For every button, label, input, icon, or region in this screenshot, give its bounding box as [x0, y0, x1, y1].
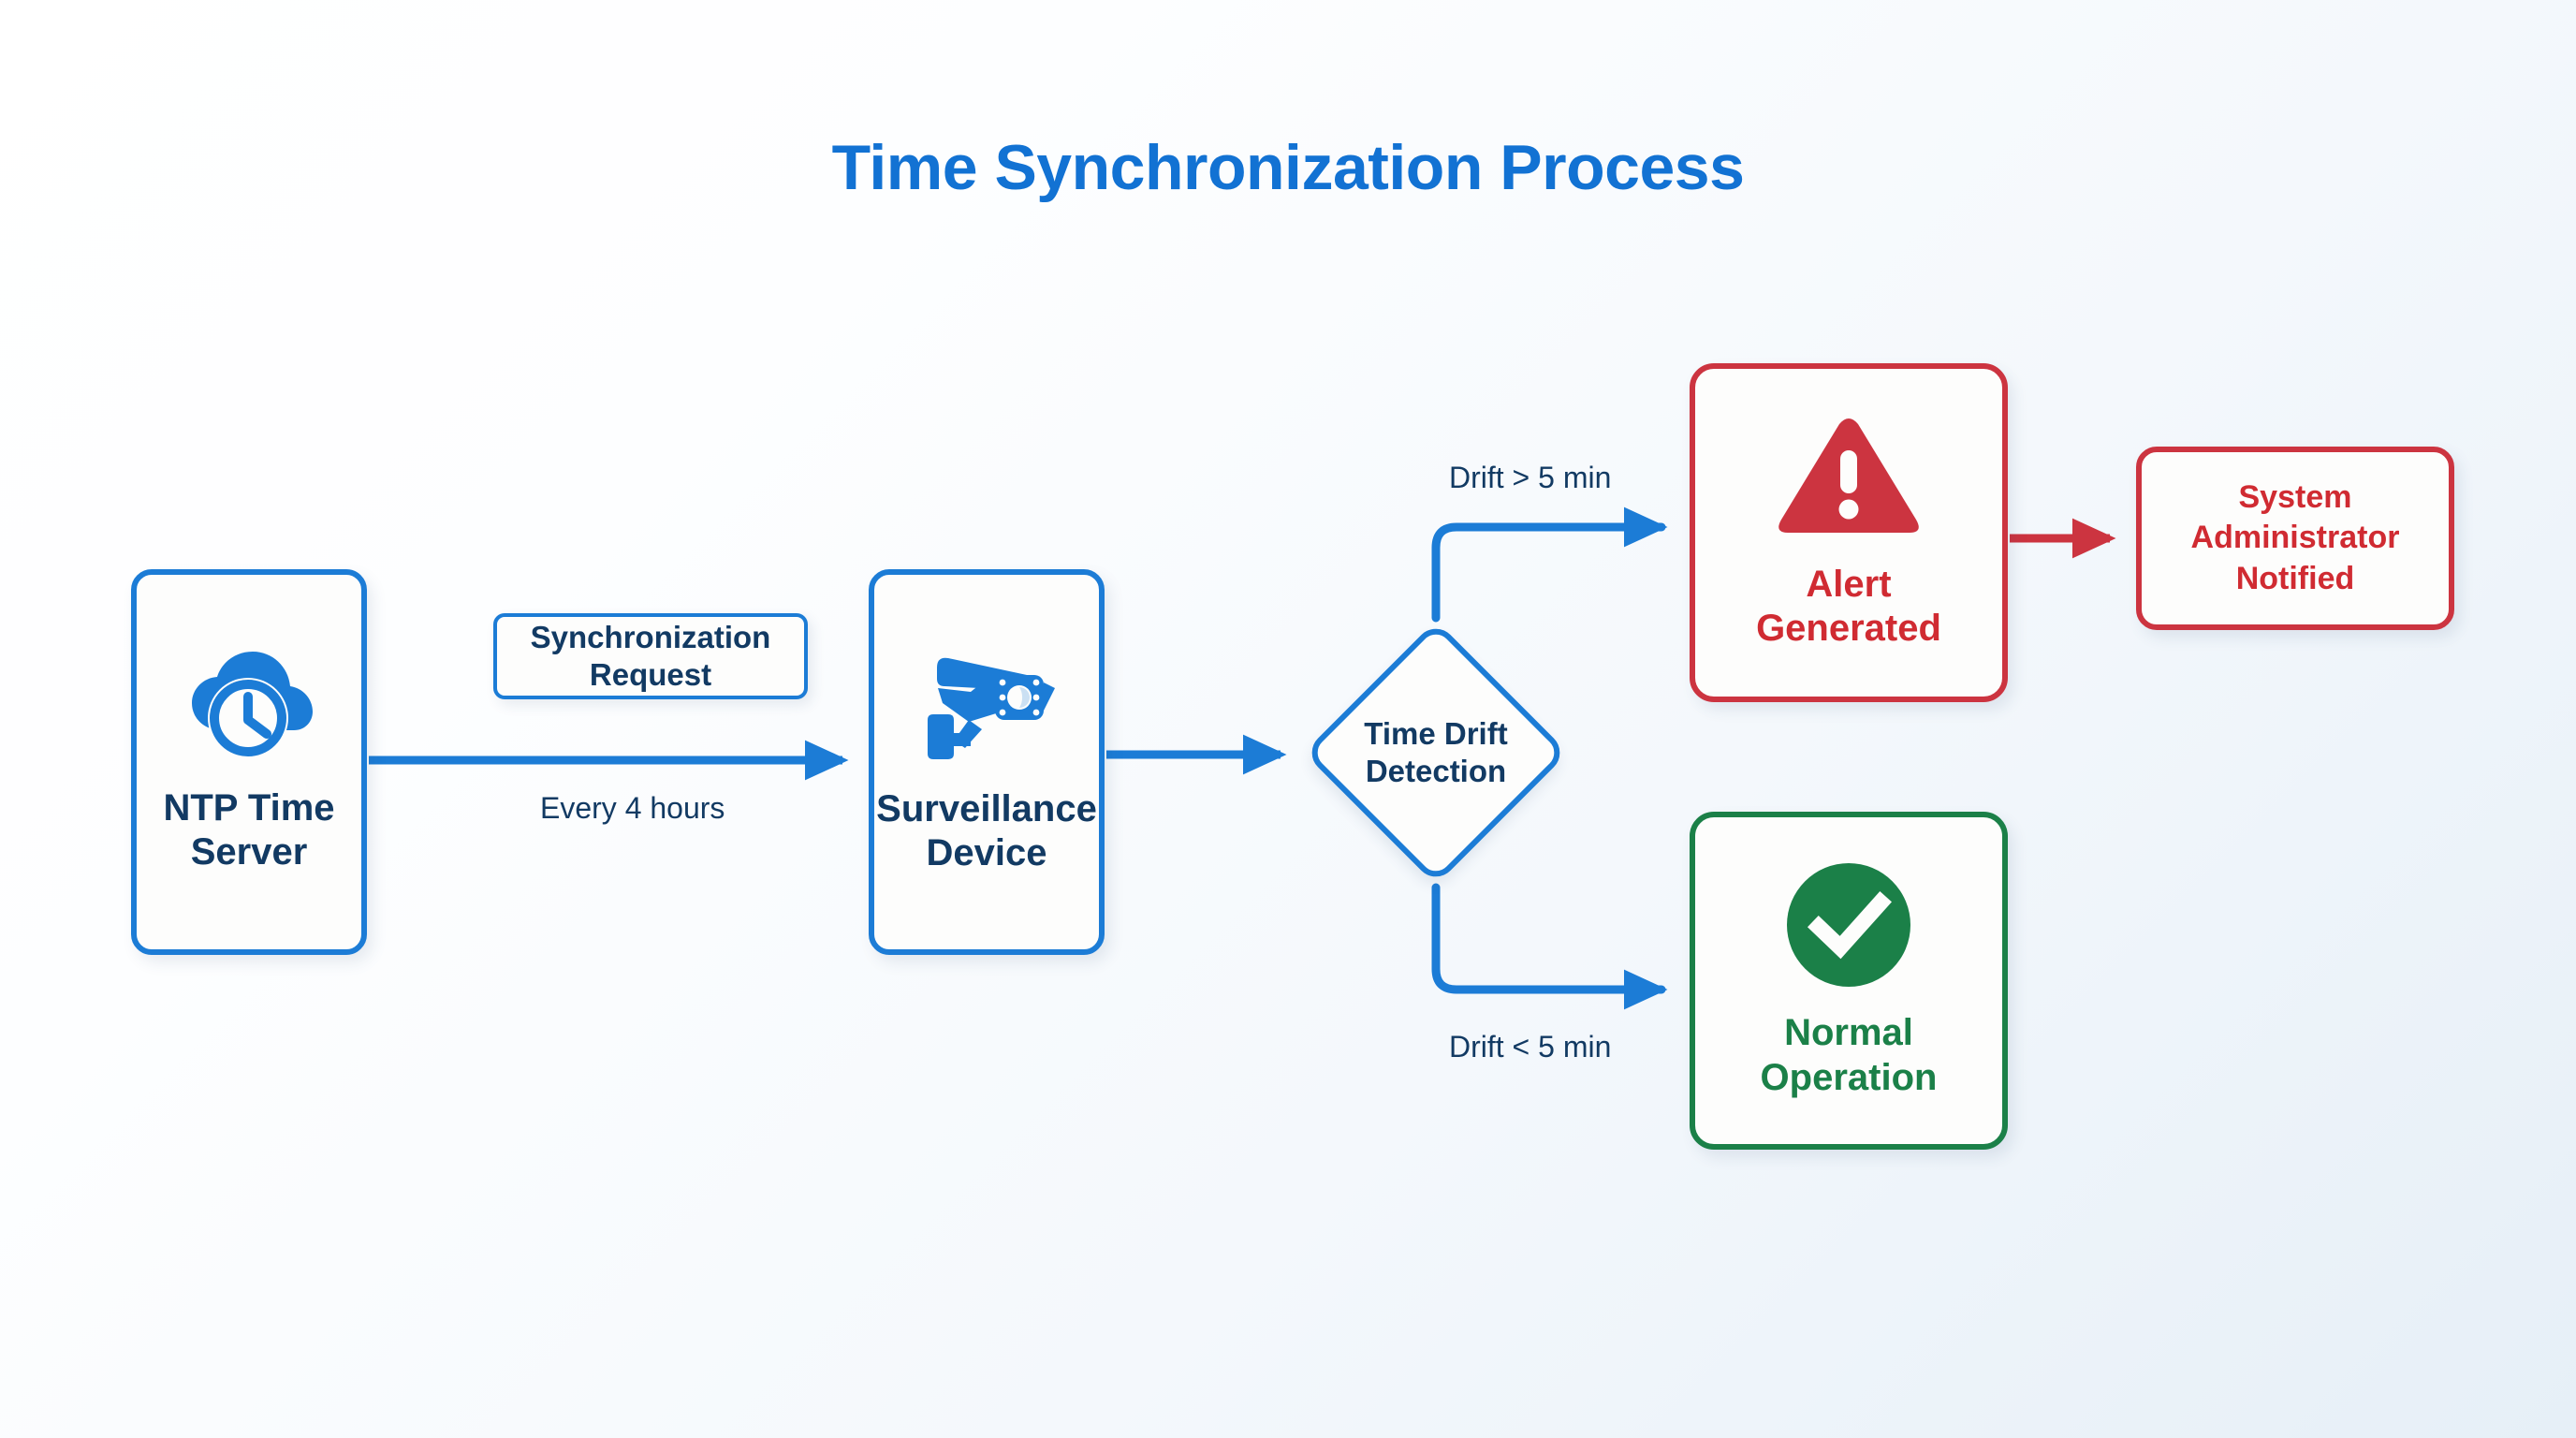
cctv-camera-icon	[916, 649, 1057, 763]
edge-decision-to-normal	[1436, 888, 1661, 990]
node-ntp-time-server[interactable]: NTP Time Server	[131, 569, 367, 955]
node-normal-operation[interactable]: Normal Operation	[1690, 812, 2008, 1150]
badge-synchronization-request: Synchronization Request	[493, 613, 808, 699]
node-system-administrator-notified[interactable]: System Administrator Notified	[2136, 447, 2454, 630]
edge-label-drift-less-than-5-min: Drift < 5 min	[1449, 1030, 1611, 1064]
node-label: Surveillance Device	[876, 787, 1097, 875]
node-surveillance-device[interactable]: Surveillance Device	[869, 569, 1105, 955]
node-label: NTP Time Server	[163, 786, 334, 874]
connector-layer	[0, 0, 2576, 1438]
check-circle-icon	[1785, 861, 1912, 989]
node-label: Time Drift Detection	[1303, 620, 1569, 886]
edge-label-every-4-hours: Every 4 hours	[540, 791, 724, 826]
node-label: Alert Generated	[1756, 563, 1941, 651]
page-title: Time Synchronization Process	[0, 131, 2576, 204]
node-time-drift-detection[interactable]: Time Drift Detection	[1303, 620, 1569, 886]
warning-triangle-icon	[1778, 415, 1920, 540]
edge-decision-to-alert	[1436, 527, 1661, 618]
cloud-clock-icon	[181, 650, 317, 760]
edge-label-drift-greater-than-5-min: Drift > 5 min	[1449, 461, 1611, 495]
node-label: System Administrator Notified	[2191, 477, 2400, 600]
node-label: Normal Operation	[1761, 1011, 1938, 1099]
node-alert-generated[interactable]: Alert Generated	[1690, 363, 2008, 702]
diagram-canvas: Time Synchronization Process	[0, 0, 2576, 1438]
